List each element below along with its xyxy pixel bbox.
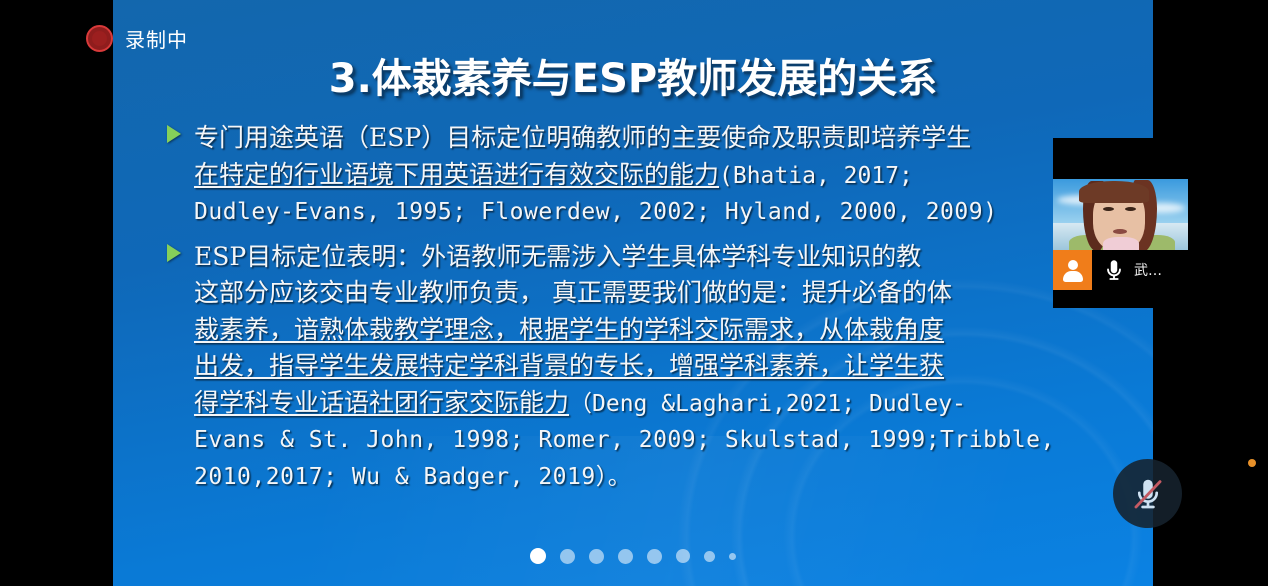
slide-line-citation: (Bhatia, 2017; xyxy=(719,163,913,189)
video-scarf xyxy=(1103,237,1139,250)
participant-name: 武… xyxy=(1134,260,1162,280)
slide-line: ESP目标定位表明：外语教师无需涉入学生具体学科专业知识的教 xyxy=(194,239,1119,276)
bullet-arrow-icon xyxy=(167,125,181,143)
recording-label: 录制中 xyxy=(125,24,188,53)
slide-line: 在特定的行业语境下用英语进行有效交际的能力(Bhatia, 2017; xyxy=(194,157,1119,195)
video-eye-right xyxy=(1125,207,1136,211)
bullet-text-block: ESP目标定位表明：外语教师无需涉入学生具体学科专业知识的教 这部分应该交由专业… xyxy=(194,239,1119,496)
pagination-dot[interactable] xyxy=(729,553,736,560)
pagination-dot[interactable] xyxy=(676,549,690,563)
pagination-dot[interactable] xyxy=(530,548,546,564)
mute-toggle-button[interactable] xyxy=(1113,459,1182,528)
slide-line: 得学科专业话语社团行家交际能力（Deng &Laghari,2021; Dudl… xyxy=(194,385,1119,423)
slide-line-underlined: 出发，指导学生发展特定学科背景的专长，增强学科素养，让学生获 xyxy=(194,351,944,380)
pagination-dot[interactable] xyxy=(560,549,575,564)
slide-title: 3.体裁素养与ESP教师发展的关系 xyxy=(113,46,1153,104)
slide-line-citation: （Deng &Laghari,2021; Dudley- xyxy=(569,391,966,417)
microphone-muted-icon xyxy=(1129,475,1167,513)
microphone-icon[interactable] xyxy=(1101,257,1127,283)
slide-body: 专门用途英语（ESP）目标定位明确教师的主要使命及职责即培养学生 在特定的行业语… xyxy=(159,120,1119,503)
pagination-dot[interactable] xyxy=(618,549,633,564)
slide-line: 出发，指导学生发展特定学科背景的专长，增强学科素养，让学生获 xyxy=(194,348,1119,385)
video-eye-left xyxy=(1103,207,1114,211)
slide-line: Evans & St. John, 1998; Romer, 2009; Sku… xyxy=(194,422,1119,459)
participant-video-feed xyxy=(1053,179,1188,250)
slide-line-part: ESP目标定位表明：外语教师无需涉入学生具体学科专业知识的教 xyxy=(194,242,921,271)
bullet-item: 专门用途英语（ESP）目标定位明确教师的主要使命及职责即培养学生 在特定的行业语… xyxy=(159,120,1119,231)
meeting-screen: 录制中 3.体裁素养与ESP教师发展的关系 专门用途英语（ESP）目标定位明确教… xyxy=(0,0,1268,586)
recording-indicator: 录制中 xyxy=(86,24,188,53)
slide-line-underlined: 在特定的行业语境下用英语进行有效交际的能力 xyxy=(194,160,719,189)
avatar-glyph xyxy=(1063,260,1083,281)
slide-line-underlined: 裁素养，谙熟体裁教学理念，根据学生的学科交际需求，从体裁角度 xyxy=(194,315,944,344)
slide-line: 2010,2017; Wu & Badger, 2019）。 xyxy=(194,459,1119,496)
pagination-dot[interactable] xyxy=(704,551,715,562)
status-indicator-dot xyxy=(1248,459,1256,467)
bullet-item: ESP目标定位表明：外语教师无需涉入学生具体学科专业知识的教 这部分应该交由专业… xyxy=(159,239,1119,496)
slide-line: Dudley-Evans, 1995; Flowerdew, 2002; Hyl… xyxy=(194,194,1119,231)
pagination-dot[interactable] xyxy=(589,549,604,564)
participant-video-tile[interactable]: 武… xyxy=(1053,138,1188,308)
shared-slide[interactable]: 3.体裁素养与ESP教师发展的关系 专门用途英语（ESP）目标定位明确教师的主要… xyxy=(113,0,1153,586)
person-avatar-icon xyxy=(1053,250,1092,290)
video-mouth xyxy=(1113,229,1127,234)
slide-pagination[interactable] xyxy=(113,548,1153,564)
participant-info-strip: 武… xyxy=(1053,250,1188,290)
pagination-dot[interactable] xyxy=(647,549,662,564)
slide-line: 裁素养，谙熟体裁教学理念，根据学生的学科交际需求，从体裁角度 xyxy=(194,312,1119,349)
slide-line-underlined: 得学科专业话语社团行家交际能力 xyxy=(194,388,569,417)
bullet-arrow-icon xyxy=(167,244,181,262)
record-dot-icon xyxy=(86,25,113,52)
bullet-text-block: 专门用途英语（ESP）目标定位明确教师的主要使命及职责即培养学生 在特定的行业语… xyxy=(194,120,1119,231)
slide-line: 专门用途英语（ESP）目标定位明确教师的主要使命及职责即培养学生 xyxy=(194,120,1119,157)
video-hair-top xyxy=(1079,181,1149,203)
slide-line: 这部分应该交由专业教师负责， 真正需要我们做的是：提升必备的体 xyxy=(194,275,1119,312)
